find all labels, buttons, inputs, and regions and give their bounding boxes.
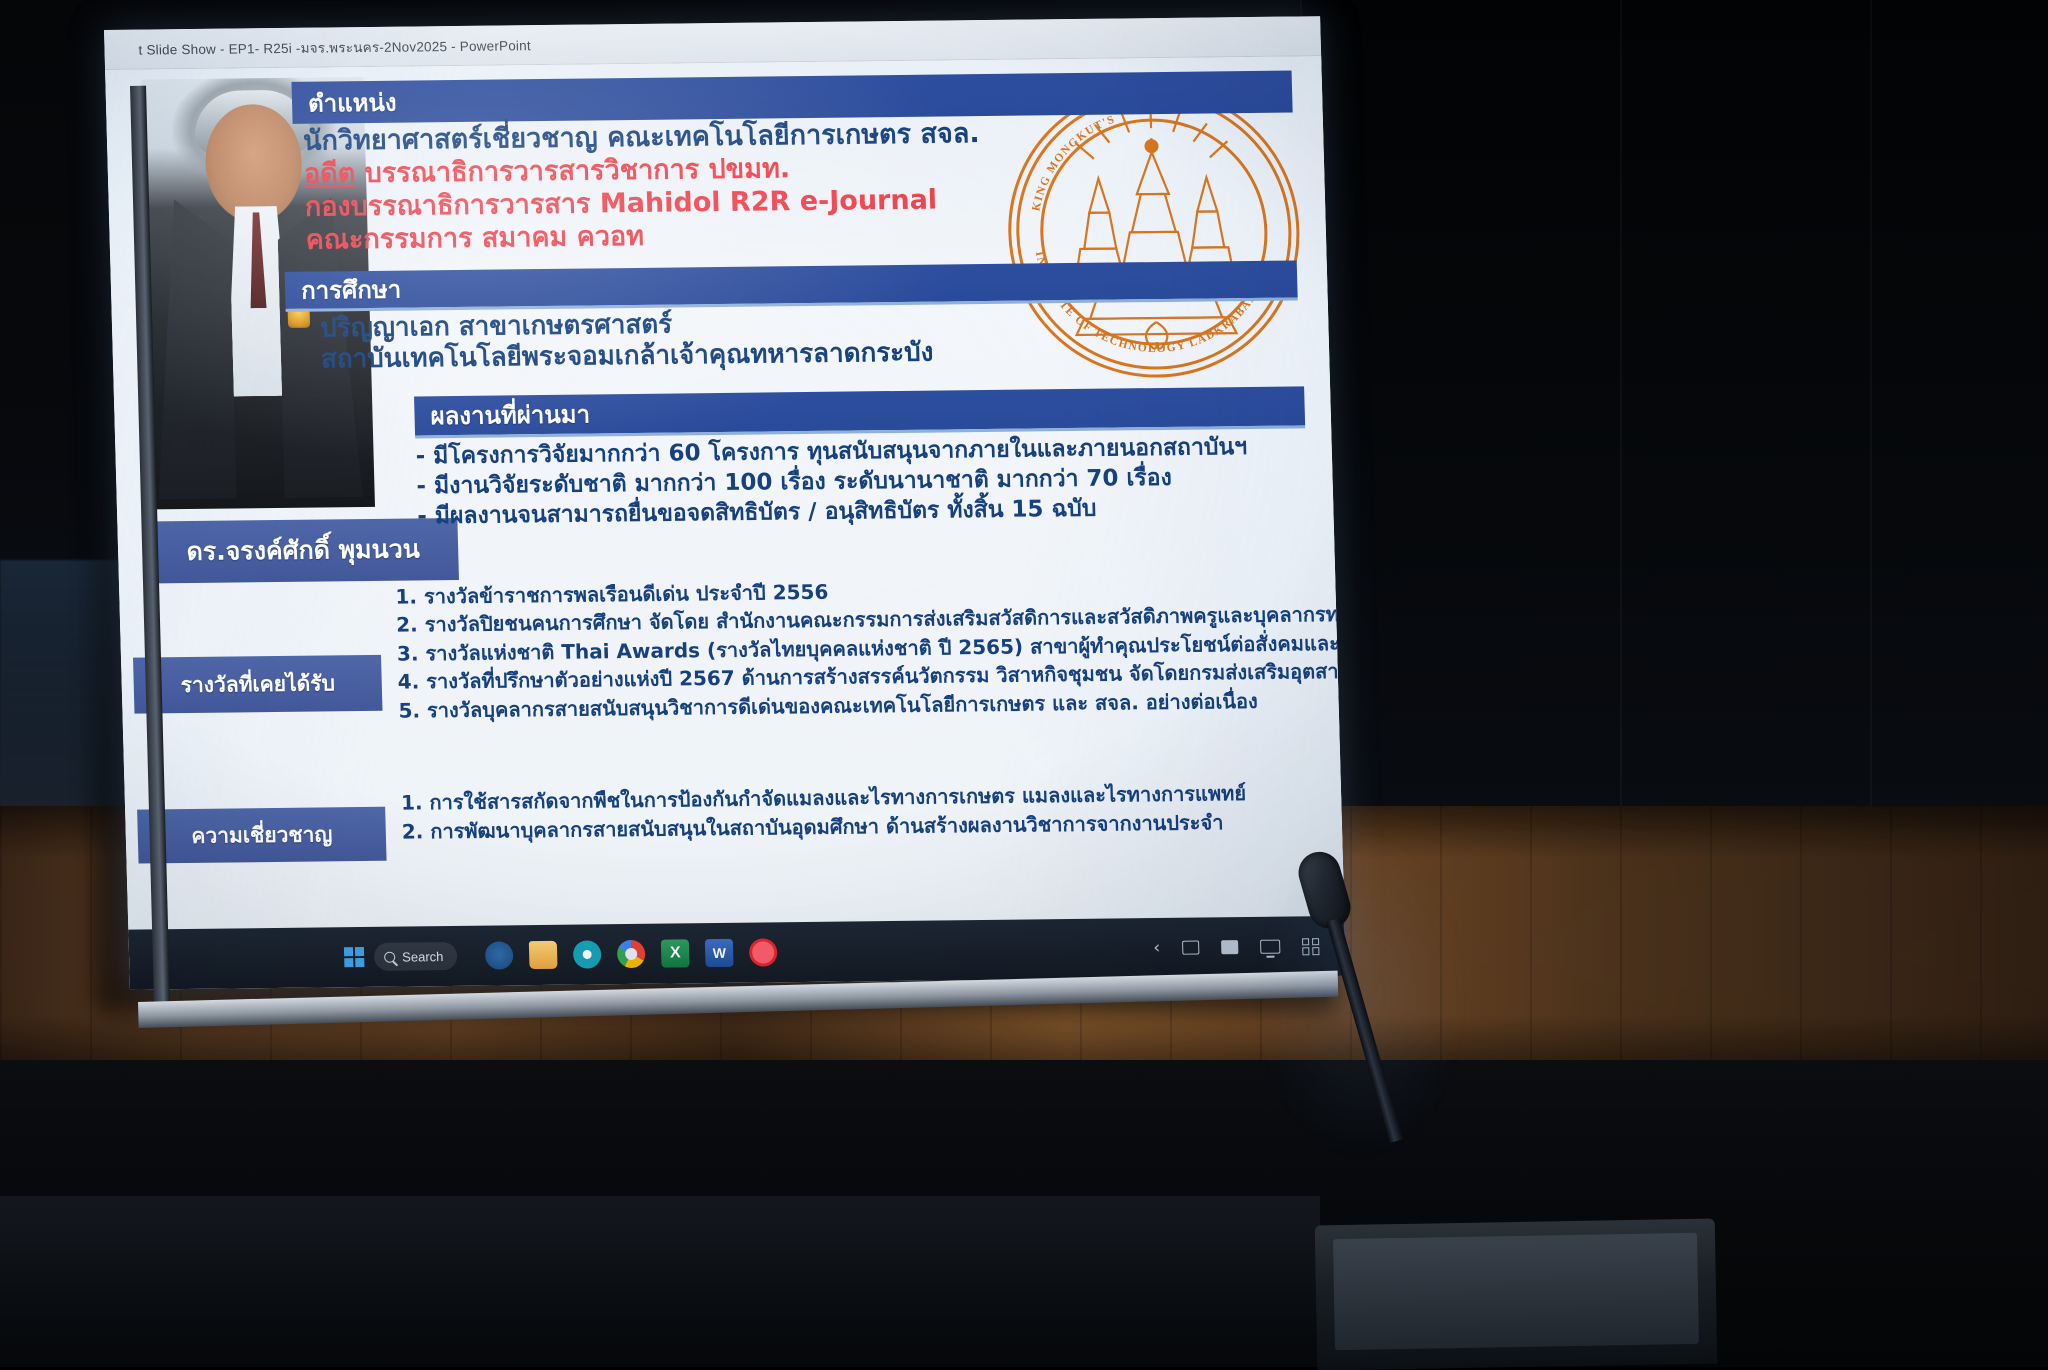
- windows-start-icon[interactable]: [344, 947, 365, 967]
- previous-slide-icon[interactable]: ‹: [1153, 939, 1160, 956]
- microphone-head: [1294, 847, 1356, 934]
- section-body-position: นักวิทยาศาสตร์เชี่ยวชาญ คณะเทคโนโลยีการเ…: [303, 114, 1317, 257]
- wall-seam: [1620, 0, 1622, 830]
- awards-list: 1. รางวัลข้าราชการพลเรือนดีเด่น ประจำปี …: [395, 572, 1329, 724]
- slide-list-icon[interactable]: [1182, 941, 1199, 955]
- position-line-2-rest: บรรณาธิการวารสารวิชาการ ปขมท.: [355, 153, 791, 189]
- laptop-silhouette: [1315, 1219, 1717, 1370]
- slide-canvas: ดร.จรงค์ศักดิ์ พุมนวน: [105, 56, 1344, 929]
- presenter-name-text: ดร.จรงค์ศักดิ์ พุมนวน: [186, 529, 420, 572]
- excel-icon[interactable]: [661, 939, 690, 967]
- room-background: t Slide Show - EP1- R25i -มจร.พระนคร-2No…: [0, 0, 2048, 1367]
- taskbar-app-group: [457, 934, 1154, 970]
- section-body-education: ปริญญาเอก สาขาเกษตรศาสตร์ สถาบันเทคโนโลย…: [320, 302, 1322, 376]
- search-icon: [384, 951, 395, 962]
- expertise-list: 1. การใช้สารสกัดจากพืชในการป้องกันกำจัดแ…: [401, 778, 1333, 847]
- search-placeholder-text: Search: [402, 949, 444, 964]
- chrome-icon[interactable]: [617, 940, 646, 968]
- section-header-works-text: ผลงานที่ผ่านมา: [430, 394, 591, 435]
- photo-jacket-left: [151, 199, 237, 500]
- red-app-icon[interactable]: [749, 938, 778, 966]
- dell-icon[interactable]: [485, 941, 514, 969]
- label-expertise: ความเชี่ยวชาญ: [137, 807, 386, 864]
- projection-screen: t Slide Show - EP1- R25i -มจร.พระนคร-2No…: [104, 16, 1346, 989]
- notes-icon[interactable]: [1221, 940, 1238, 954]
- label-expertise-text: ความเชี่ยวชาญ: [191, 818, 333, 853]
- position-line-2-prefix: อดีต: [304, 158, 356, 190]
- section-header-education-text: การศึกษา: [301, 270, 402, 310]
- presenter-name-plate: ดร.จรงค์ศักดิ์ พุมนวน: [147, 518, 459, 583]
- taskbar-search-box[interactable]: Search: [374, 942, 458, 971]
- wall-seam: [1870, 0, 1872, 830]
- label-awards: รางวัลที่เคยได้รับ: [133, 655, 383, 714]
- microphone-stand: [1326, 918, 1403, 1143]
- section-header-position-text: ตำแหน่ง: [308, 82, 398, 122]
- powerpoint-title-text: t Slide Show - EP1- R25i -มจร.พระนคร-2No…: [138, 34, 531, 60]
- section-body-works: - มีโครงการวิจัยมากกว่า 60 โครงการ ทุนสน…: [415, 432, 1317, 532]
- word-icon[interactable]: [705, 939, 734, 967]
- teal-app-icon[interactable]: [573, 940, 602, 968]
- section-header-works: ผลงานที่ผ่านมา: [414, 386, 1305, 438]
- label-awards-text: รางวัลที่เคยได้รับ: [180, 667, 335, 702]
- taskbar-left-group: Search: [129, 942, 458, 974]
- folder-icon[interactable]: [529, 941, 558, 969]
- desk-edge: [0, 1196, 1320, 1367]
- right-wall-panel: [1300, 0, 2048, 830]
